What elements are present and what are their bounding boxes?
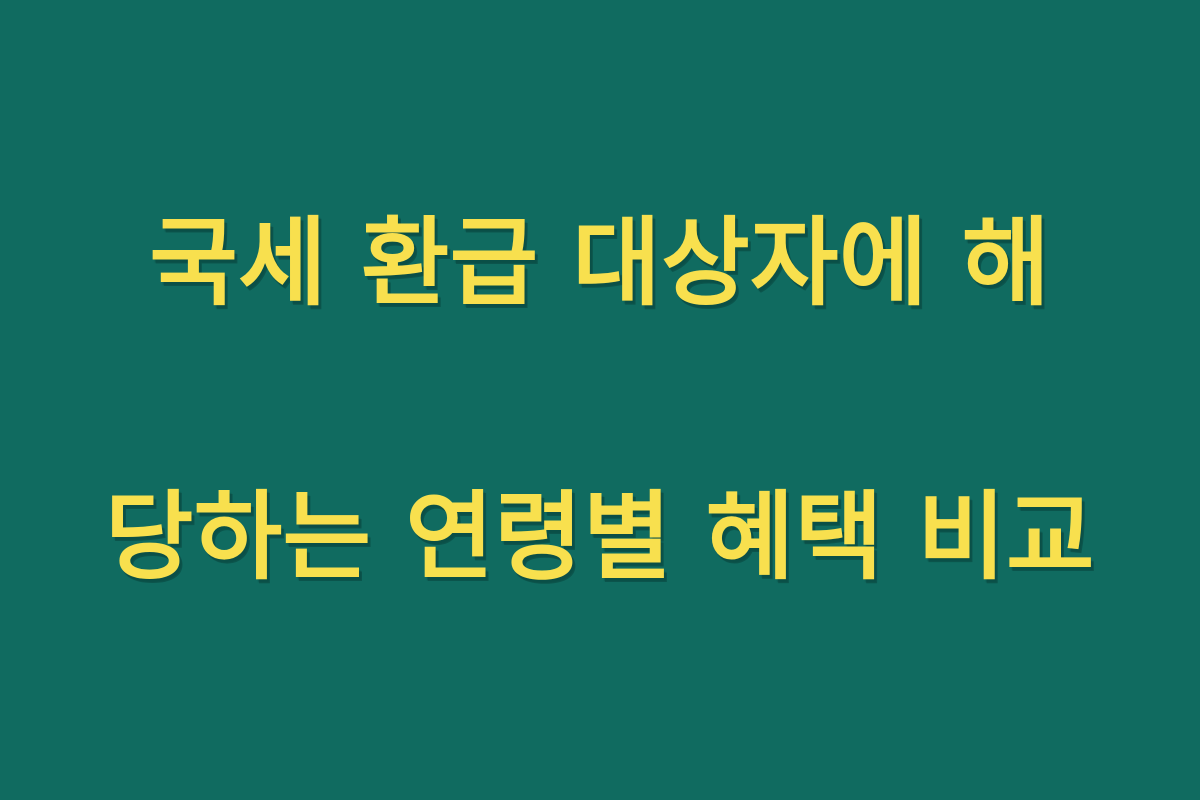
headline-line-2: 당하는 연령별 혜택 비교 (40, 469, 1160, 606)
banner-canvas: 국세 환급 대상자에 해 당하는 연령별 혜택 비교 (0, 0, 1200, 800)
headline-line-1: 국세 환급 대상자에 해 (40, 195, 1160, 332)
page-title: 국세 환급 대상자에 해 당하는 연령별 혜택 비교 (40, 58, 1160, 743)
